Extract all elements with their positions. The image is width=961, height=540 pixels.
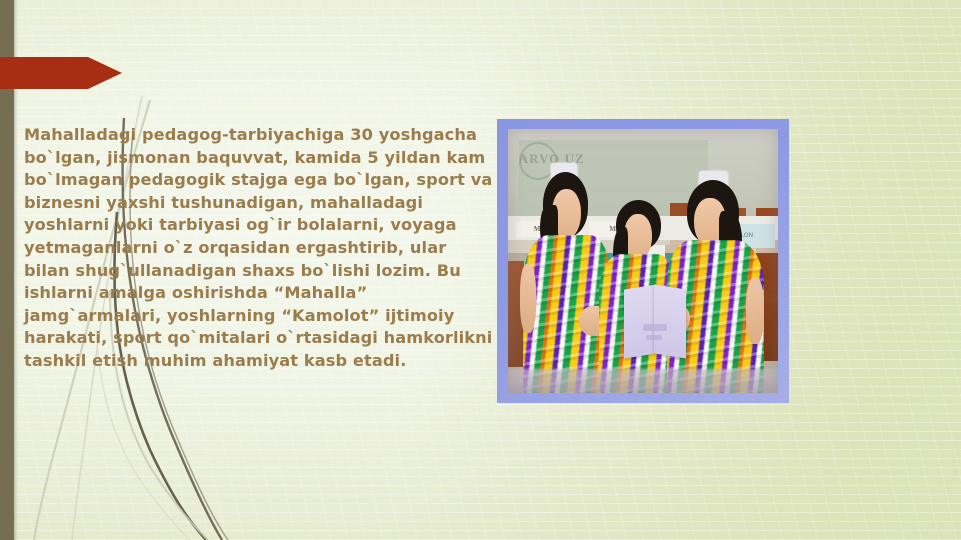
picture-frame: ARVO UZ MEHRIY MALIKA E'LON xyxy=(497,119,789,403)
photo-bottom-blur xyxy=(508,369,778,393)
presentation-slide: Mahalladagi pedagog-tarbiyachiga 30 yosh… xyxy=(0,0,961,540)
photo-face xyxy=(624,214,653,260)
photo-woman-right xyxy=(665,171,778,393)
photo-arm xyxy=(520,264,536,333)
picture-three-women-reading: ARVO UZ MEHRIY MALIKA E'LON xyxy=(508,129,778,393)
photo-arm xyxy=(746,278,764,345)
slide-body-text: Mahalladagi pedagog-tarbiyachiga 30 yosh… xyxy=(24,124,494,373)
